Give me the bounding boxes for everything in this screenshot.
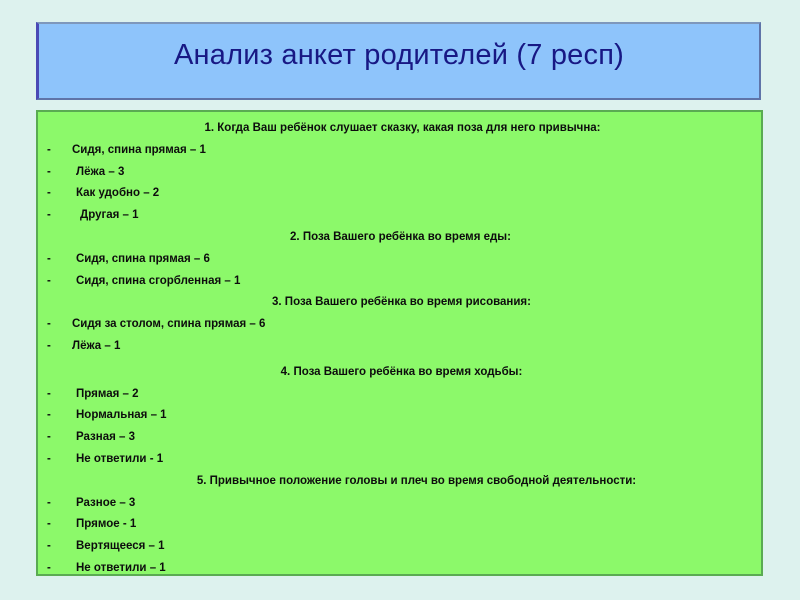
- list-item: - Другая – 1: [38, 205, 761, 227]
- list-item: - Сидя, спина сгорбленная – 1: [38, 271, 761, 293]
- list-item-label: Как удобно – 2: [68, 183, 159, 205]
- slide-title-box: Анализ анкет родителей (7 респ): [36, 22, 761, 100]
- bullet-dash-icon: -: [38, 427, 68, 449]
- list-item: - Вертящееся – 1: [38, 536, 761, 558]
- question-heading-1: 1. Когда Ваш ребёнок слушает сказку, как…: [38, 118, 761, 140]
- list-item-label: Не ответили – 1: [68, 558, 166, 576]
- list-item-label: Лёжа – 1: [68, 336, 120, 358]
- list-item-label: Лёжа – 3: [68, 162, 124, 184]
- list-item-label: Нормальная – 1: [68, 405, 167, 427]
- bullet-dash-icon: -: [38, 536, 68, 558]
- list-item-label: Не ответили - 1: [68, 449, 163, 471]
- list-item-label: Прямое - 1: [68, 514, 136, 536]
- slide: Анализ анкет родителей (7 респ) 1. Когда…: [0, 0, 800, 600]
- list-item: - Лёжа – 1: [38, 336, 761, 358]
- question-heading-3: 3. Поза Вашего ребёнка во время рисовани…: [38, 292, 761, 314]
- bullet-dash-icon: -: [38, 514, 68, 536]
- list-item-label: Сидя, спина прямая – 6: [68, 249, 210, 271]
- page-title: Анализ анкет родителей (7 респ): [174, 39, 624, 72]
- bullet-dash-icon: -: [38, 336, 68, 358]
- list-item-label: Разное – 3: [68, 493, 135, 515]
- bullet-dash-icon: -: [38, 405, 68, 427]
- list-item: - Сидя, спина прямая – 6: [38, 249, 761, 271]
- list-item-label: Сидя, спина сгорбленная – 1: [68, 271, 240, 293]
- question-heading-4: 4. Поза Вашего ребёнка во время ходьбы:: [38, 362, 761, 384]
- list-item-label: Сидя за столом, спина прямая – 6: [68, 314, 265, 336]
- list-item: - Как удобно – 2: [38, 183, 761, 205]
- list-item-label: Прямая – 2: [68, 384, 139, 406]
- list-item-label: Вертящееся – 1: [68, 536, 165, 558]
- list-item: - Разное – 3: [38, 493, 761, 515]
- list-item: - Прямое - 1: [38, 514, 761, 536]
- list-item: - Нормальная – 1: [38, 405, 761, 427]
- bullet-dash-icon: -: [38, 449, 68, 471]
- list-item: - Лёжа – 3: [38, 162, 761, 184]
- bullet-dash-icon: -: [38, 205, 68, 227]
- bullet-dash-icon: -: [38, 271, 68, 293]
- bullet-dash-icon: -: [38, 183, 68, 205]
- bullet-dash-icon: -: [38, 249, 68, 271]
- bullet-dash-icon: -: [38, 314, 68, 336]
- list-item: - Не ответили – 1: [38, 558, 761, 576]
- list-item: - Разная – 3: [38, 427, 761, 449]
- list-item: - Не ответили - 1: [38, 449, 761, 471]
- slide-content-box: 1. Когда Ваш ребёнок слушает сказку, как…: [36, 110, 763, 576]
- bullet-dash-icon: -: [38, 140, 68, 162]
- question-heading-5: 5. Привычное положение головы и плеч во …: [38, 471, 761, 493]
- question-heading-2: 2. Поза Вашего ребёнка во время еды:: [38, 227, 761, 249]
- list-item-label: Сидя, спина прямая – 1: [68, 140, 206, 162]
- list-item: - Сидя, спина прямая – 1: [38, 140, 761, 162]
- bullet-dash-icon: -: [38, 162, 68, 184]
- list-item: - Прямая – 2: [38, 384, 761, 406]
- bullet-dash-icon: -: [38, 493, 68, 515]
- list-item-label: Разная – 3: [68, 427, 135, 449]
- bullet-dash-icon: -: [38, 558, 68, 576]
- list-item-label: Другая – 1: [68, 205, 139, 227]
- bullet-dash-icon: -: [38, 384, 68, 406]
- list-item: - Сидя за столом, спина прямая – 6: [38, 314, 761, 336]
